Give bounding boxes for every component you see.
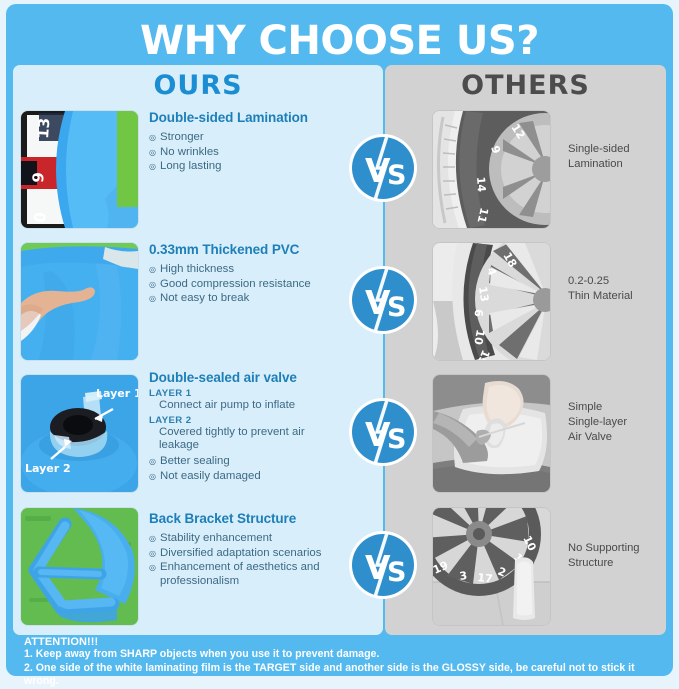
panel-others: OTHERS — [385, 65, 666, 635]
ours-row-2: 0.33mm Thickened PVC High thickness Good… — [13, 240, 383, 367]
vs-badge-2: V S — [347, 264, 419, 336]
bullet: No wrinkles — [149, 146, 339, 160]
others-row-4: 19 3 17 2 15 10 No Supporting Structure — [385, 505, 666, 632]
layer-2-label: LAYER 2 — [149, 415, 339, 426]
caption-line: Single-sided — [568, 142, 660, 157]
page-title: WHY CHOOSE US? — [6, 18, 673, 64]
caption-line: Single-layer — [568, 415, 660, 430]
column-header-ours: OURS — [13, 65, 383, 101]
caption-line: Structure — [568, 556, 660, 571]
bullet: Stability enhancement — [149, 532, 339, 546]
bullet: Good compression resistance — [149, 278, 339, 292]
thumb-double-sealed-air-valve: Layer 1 Layer 2 — [21, 375, 138, 492]
svg-text:13: 13 — [476, 286, 491, 303]
ours-row-3: Layer 1 Layer 2 Double-sealed air valve … — [13, 372, 383, 499]
caption-line: No Supporting — [568, 541, 660, 556]
feature-title: Double-sided Lamination — [149, 110, 339, 125]
svg-text:17: 17 — [477, 571, 494, 586]
thumb-grayscale-thin-dartboard: 18 4 13 6 10 15 — [433, 243, 550, 360]
feature-title: Double-sealed air valve — [149, 370, 339, 385]
svg-text:S: S — [387, 424, 406, 455]
svg-text:Layer 1: Layer 1 — [96, 387, 138, 400]
attention-heading: ATTENTION!!! — [24, 636, 664, 648]
caption-line: Thin Material — [568, 289, 660, 304]
bullet: Long lasting — [149, 160, 339, 174]
feature-block-3: Double-sealed air valve LAYER 1 Connect … — [149, 370, 339, 484]
feature-title: Back Bracket Structure — [149, 511, 339, 526]
feature-block-2: 0.33mm Thickened PVC High thickness Good… — [149, 242, 339, 307]
svg-text:14: 14 — [474, 176, 488, 193]
attention-line-2: 2. One side of the white laminating film… — [24, 662, 664, 689]
layer-1-label: LAYER 1 — [149, 388, 339, 399]
caption-line: 0.2-0.25 — [568, 274, 660, 289]
thumb-grayscale-dartboard-edge: 12 9 14 11 — [433, 111, 550, 228]
feature-bullets: Stronger No wrinkles Long lasting — [149, 131, 339, 174]
svg-text:S: S — [387, 557, 406, 588]
ours-row-1: 13 9 0 Double-sided Lamination Stronger … — [13, 108, 383, 235]
others-caption-3: Simple Single-layer Air Valve — [568, 400, 660, 445]
thumb-grayscale-hand-single-valve — [433, 375, 550, 492]
svg-text:6: 6 — [472, 309, 485, 317]
ours-row-4: Back Bracket Structure Stability enhance… — [13, 505, 383, 632]
others-caption-4: No Supporting Structure — [568, 541, 660, 571]
vs-badge-1: V S — [347, 132, 419, 204]
bullet: Enhancement of aesthetics and profession… — [149, 561, 339, 588]
feature-block-1: Double-sided Lamination Stronger No wrin… — [149, 110, 339, 175]
others-row-2: 18 4 13 6 10 15 0.2-0.25 Thin Material — [385, 240, 666, 367]
layer-1-text: Connect air pump to inflate — [149, 399, 339, 412]
vs-badge-3: V S — [347, 396, 419, 468]
thumb-hand-pressing-pvc — [21, 243, 138, 360]
attention-line-1: 1. Keep away from SHARP objects when you… — [24, 648, 664, 662]
thumb-inflatable-dartboard-blue: 13 9 0 — [21, 111, 138, 228]
panel-ours: OURS 13 9 0 — [13, 65, 383, 635]
others-row-1: 12 9 14 11 Single-sided Lamination — [385, 108, 666, 235]
svg-text:0: 0 — [31, 212, 50, 224]
column-header-others: OTHERS — [385, 65, 666, 101]
feature-title: 0.33mm Thickened PVC — [149, 242, 339, 257]
feature-bullets: Stability enhancement Diversified adapta… — [149, 532, 339, 588]
caption-line: Simple — [568, 400, 660, 415]
bullet: Not easy to break — [149, 292, 339, 306]
feature-block-4: Back Bracket Structure Stability enhance… — [149, 511, 339, 589]
svg-text:S: S — [387, 292, 406, 323]
feature-bullets: High thickness Good compression resistan… — [149, 263, 339, 306]
attention-block: ATTENTION!!! 1. Keep away from SHARP obj… — [24, 636, 664, 689]
feature-bullets: Better sealing Not easily damaged — [149, 455, 339, 483]
vs-badge-4: V S — [347, 529, 419, 601]
bullet: Not easily damaged — [149, 470, 339, 484]
bullet: Better sealing — [149, 455, 339, 469]
others-caption-2: 0.2-0.25 Thin Material — [568, 274, 660, 304]
poster-card: WHY CHOOSE US? OURS 13 9 0 — [6, 4, 673, 676]
thumb-back-bracket-on-grass — [21, 508, 138, 625]
bullet: Diversified adaptation scenarios — [149, 547, 339, 561]
others-row-3: Simple Single-layer Air Valve — [385, 372, 666, 499]
bullet: High thickness — [149, 263, 339, 277]
svg-text:10: 10 — [471, 328, 487, 346]
caption-line: Air Valve — [568, 430, 660, 445]
caption-line: Lamination — [568, 157, 660, 172]
svg-text:13: 13 — [34, 117, 53, 139]
thumb-grayscale-dartboard-no-stand: 19 3 17 2 15 10 — [433, 508, 550, 625]
others-caption-1: Single-sided Lamination — [568, 142, 660, 172]
svg-text:Layer 2: Layer 2 — [25, 462, 71, 475]
bullet: Stronger — [149, 131, 339, 145]
layer-2-text: Covered tightly to prevent air leakage — [149, 426, 339, 452]
svg-text:9: 9 — [29, 172, 48, 184]
svg-text:S: S — [387, 160, 406, 191]
